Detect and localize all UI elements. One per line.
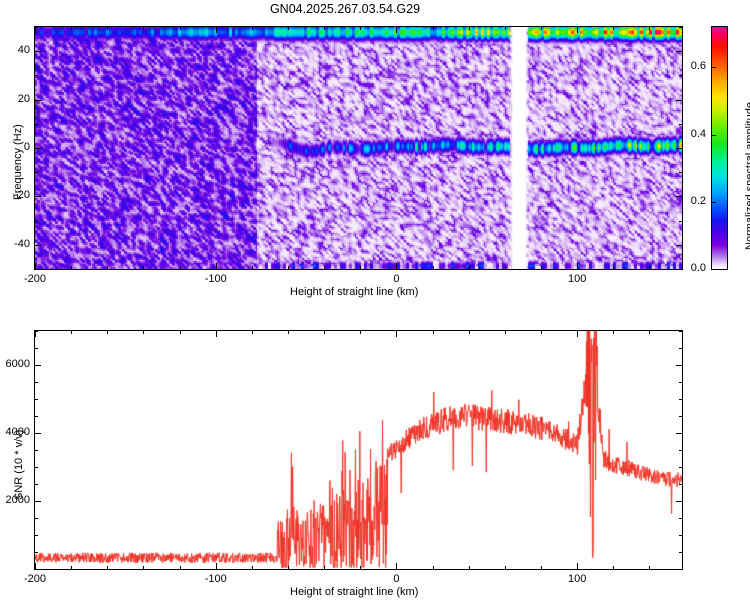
snr-y-tick — [676, 365, 683, 366]
snr-x-tick — [649, 330, 650, 334]
spectrogram-x-tick-label: -200 — [19, 273, 51, 285]
colorbar-tick-label: 0.2 — [678, 195, 706, 207]
spectrogram-y-tick — [679, 124, 683, 125]
colorbar-tick — [711, 135, 716, 136]
spectrogram-x-tick-label: 100 — [561, 273, 593, 285]
spectrogram-y-tick — [679, 75, 683, 76]
spectrogram-x-tick — [649, 266, 650, 270]
spectrogram-y-tick — [34, 245, 41, 246]
spectrogram-x-tick — [505, 26, 506, 30]
spectrogram-y-tick — [676, 245, 683, 246]
spectrogram-y-tick — [679, 221, 683, 222]
colorbar-tick — [711, 269, 716, 270]
snr-x-tick — [541, 330, 542, 334]
snr-x-tick — [613, 566, 614, 570]
snr-x-tick — [107, 566, 108, 570]
spectrogram-x-tick — [360, 26, 361, 30]
snr-x-tick — [360, 566, 361, 570]
spectrogram-y-tick — [679, 172, 683, 173]
snr-y-tick — [34, 348, 38, 349]
spectrogram-x-tick — [71, 26, 72, 30]
spectrogram-plot-area — [34, 26, 683, 270]
spectrogram-y-tick — [676, 100, 683, 101]
snr-y-tick — [34, 365, 41, 366]
snr-y-tick — [679, 399, 683, 400]
snr-y-tick — [679, 518, 683, 519]
spectrogram-y-tick-label: -40 — [0, 238, 30, 250]
snr-y-tick — [34, 569, 38, 570]
snr-x-tick-label: -200 — [19, 573, 51, 585]
spectrogram-y-tick — [34, 196, 41, 197]
spectrogram-x-tick — [252, 266, 253, 270]
spectrogram-x-tick-label: -100 — [200, 273, 232, 285]
colorbar-tick-label: 0.6 — [678, 60, 706, 72]
snr-x-tick — [469, 566, 470, 570]
spectrogram-y-tick — [676, 51, 683, 52]
page-title: GN04.2025.267.03.54.G29 — [0, 2, 690, 16]
snr-y-tick — [679, 484, 683, 485]
snr-x-tick — [216, 563, 217, 570]
snr-y-tick — [34, 416, 38, 417]
snr-x-tick — [396, 563, 397, 570]
snr-x-tick — [396, 330, 397, 337]
snr-x-tick-label: 100 — [561, 573, 593, 585]
spectrogram-image — [35, 27, 682, 269]
spectrogram-y-tick-label: 20 — [0, 93, 30, 105]
spectrogram-y-tick — [34, 148, 41, 149]
snr-y-tick-label: 6000 — [0, 358, 30, 370]
spectrogram-x-tick — [107, 266, 108, 270]
spectrogram-x-tick — [577, 26, 578, 33]
snr-x-tick — [252, 566, 253, 570]
snr-y-tick — [679, 348, 683, 349]
colorbar-gradient — [711, 26, 728, 270]
colorbar-tick-label: 0.4 — [678, 128, 706, 140]
snr-y-tick — [679, 416, 683, 417]
snr-y-tick — [34, 552, 38, 553]
snr-x-tick — [433, 566, 434, 570]
snr-trace — [35, 331, 682, 569]
snr-x-tick — [577, 330, 578, 337]
snr-x-tick — [180, 566, 181, 570]
snr-y-tick — [676, 501, 683, 502]
spectrogram-x-tick — [469, 266, 470, 270]
snr-x-tick — [143, 330, 144, 334]
spectrogram-x-tick — [216, 26, 217, 33]
spectrogram-x-tick — [288, 266, 289, 270]
spectrogram-x-tick — [613, 266, 614, 270]
snr-y-tick — [34, 467, 38, 468]
spectrogram-x-axis-title: Height of straight line (km) — [290, 286, 418, 298]
spectrogram-x-tick — [469, 26, 470, 30]
snr-x-tick — [649, 566, 650, 570]
spectrogram-x-tick — [252, 26, 253, 30]
spectrogram-x-tick — [505, 266, 506, 270]
spectrogram-y-tick — [679, 27, 683, 28]
snr-x-tick — [71, 566, 72, 570]
spectrogram-x-tick — [577, 263, 578, 270]
spectrogram-x-tick — [324, 266, 325, 270]
spectrogram-x-tick — [396, 263, 397, 270]
spectrogram-x-tick — [71, 266, 72, 270]
snr-y-tick — [34, 450, 38, 451]
spectrogram-x-tick — [288, 26, 289, 30]
snr-y-tick — [676, 433, 683, 434]
snr-x-tick — [288, 566, 289, 570]
spectrogram-x-tick — [541, 26, 542, 30]
snr-y-tick — [34, 501, 41, 502]
spectrogram-y-tick — [34, 51, 41, 52]
spectrogram-y-tick — [34, 100, 41, 101]
snr-x-tick — [288, 330, 289, 334]
snr-y-tick — [34, 535, 38, 536]
snr-y-tick — [679, 569, 683, 570]
snr-x-tick — [180, 330, 181, 334]
spectrogram-y-tick — [676, 148, 683, 149]
spectrogram-x-tick-label: 0 — [380, 273, 412, 285]
spectrogram-x-tick — [613, 26, 614, 30]
snr-x-tick — [360, 330, 361, 334]
spectrogram-y-tick — [34, 124, 38, 125]
snr-y-tick — [679, 552, 683, 553]
snr-x-tick-label: 0 — [380, 573, 412, 585]
snr-y-tick — [679, 535, 683, 536]
snr-x-tick — [433, 330, 434, 334]
spectrogram-x-tick — [649, 26, 650, 30]
snr-x-tick-label: -100 — [200, 573, 232, 585]
spectrogram-y-tick — [34, 269, 38, 270]
spectrogram-x-tick — [360, 266, 361, 270]
spectrogram-x-tick — [541, 266, 542, 270]
snr-x-tick — [613, 330, 614, 334]
spectrogram-x-tick — [433, 26, 434, 30]
snr-x-tick — [107, 330, 108, 334]
colorbar-tick — [711, 202, 716, 203]
snr-y-tick — [679, 467, 683, 468]
snr-x-tick — [577, 563, 578, 570]
spectrogram-x-tick — [143, 26, 144, 30]
spectrogram-y-tick-label: 40 — [0, 44, 30, 56]
spectrogram-y-tick — [34, 27, 38, 28]
spectrogram-y-tick — [34, 172, 38, 173]
spectrogram-y-tick — [34, 221, 38, 222]
snr-y-tick — [34, 518, 38, 519]
snr-x-tick — [469, 330, 470, 334]
snr-x-tick — [143, 566, 144, 570]
snr-y-tick — [34, 433, 41, 434]
snr-x-tick — [541, 566, 542, 570]
spectrogram-x-tick — [180, 26, 181, 30]
spectrogram-x-tick — [324, 26, 325, 30]
snr-x-tick — [252, 330, 253, 334]
snr-y-tick — [679, 382, 683, 383]
snr-x-tick — [324, 330, 325, 334]
figure-root: GN04.2025.267.03.54.G29 -200-1000100 402… — [0, 0, 750, 600]
snr-x-tick — [505, 330, 506, 334]
snr-y-tick — [679, 450, 683, 451]
snr-x-tick — [505, 566, 506, 570]
colorbar-tick-label: 0.0 — [678, 262, 706, 274]
spectrogram-x-tick — [107, 26, 108, 30]
spectrogram-x-tick — [143, 266, 144, 270]
spectrogram-x-tick — [433, 266, 434, 270]
snr-x-tick — [71, 330, 72, 334]
spectrogram-x-tick — [216, 263, 217, 270]
snr-y-tick — [34, 331, 38, 332]
snr-y-tick — [34, 382, 38, 383]
snr-plot-area — [34, 330, 683, 570]
snr-x-tick — [324, 566, 325, 570]
snr-x-axis-title: Height of straight line (km) — [290, 586, 418, 598]
spectrogram-x-tick — [396, 26, 397, 33]
colorbar-tick — [711, 67, 716, 68]
snr-x-tick — [216, 330, 217, 337]
snr-y-tick — [679, 331, 683, 332]
spectrogram-x-tick — [180, 266, 181, 270]
snr-y-tick — [34, 399, 38, 400]
snr-y-tick — [34, 484, 38, 485]
spectrogram-y-tick — [34, 75, 38, 76]
